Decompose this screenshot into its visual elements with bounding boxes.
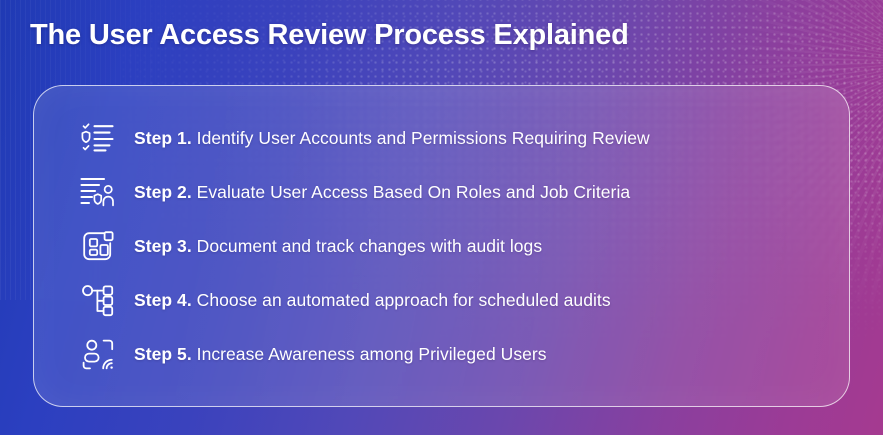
step-row: Step 4. Choose an automated approach for… [34,273,849,327]
step-text: Step 1. Identify User Accounts and Permi… [134,128,650,149]
step-text: Step 5. Increase Awareness among Privile… [134,344,547,365]
step-row: Step 1. Identify User Accounts and Permi… [34,111,849,165]
step-text: Step 3. Document and track changes with … [134,236,542,257]
user-broadcast-icon [76,334,120,374]
step-label: Step 4. [134,290,192,310]
step-label: Step 3. [134,236,192,256]
step-label: Step 1. [134,128,192,148]
infographic-slide: The User Access Review Process Explained… [0,0,883,435]
user-shield-lines-icon [76,172,120,212]
step-row: Step 3. Document and track changes with … [34,219,849,273]
page-title: The User Access Review Process Explained [30,19,629,52]
step-label: Step 2. [134,182,192,202]
step-description: Choose an automated approach for schedul… [197,290,611,310]
step-text: Step 4. Choose an automated approach for… [134,290,611,311]
hierarchy-tree-icon [76,280,120,320]
step-description: Increase Awareness among Privileged User… [197,344,547,364]
step-label: Step 5. [134,344,192,364]
step-text: Step 2. Evaluate User Access Based On Ro… [134,182,630,203]
step-row: Step 5. Increase Awareness among Privile… [34,327,849,381]
checklist-shield-icon [76,118,120,158]
step-description: Evaluate User Access Based On Roles and … [197,182,631,202]
step-description: Document and track changes with audit lo… [197,236,543,256]
dashboard-blocks-icon [76,226,120,266]
steps-card: Step 1. Identify User Accounts and Permi… [33,85,850,407]
step-row: Step 2. Evaluate User Access Based On Ro… [34,165,849,219]
step-description: Identify User Accounts and Permissions R… [197,128,650,148]
